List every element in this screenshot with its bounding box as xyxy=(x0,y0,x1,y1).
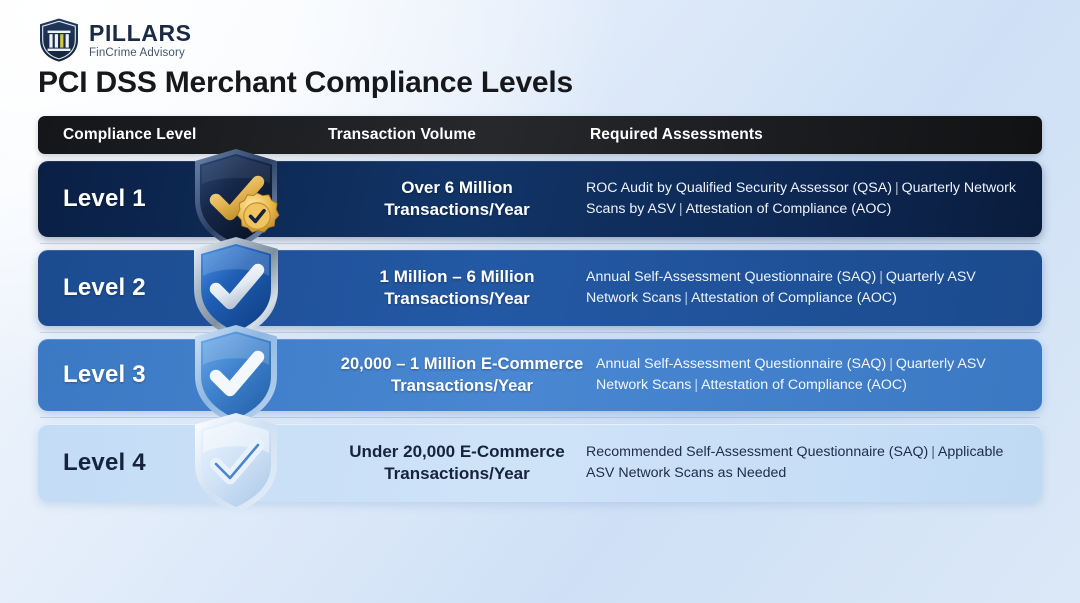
column-header-required-assessments: Required Assessments xyxy=(586,126,1042,144)
brand-name: PILLARS xyxy=(89,22,192,45)
volume-line-2: Transactions/Year xyxy=(384,289,530,308)
column-header-compliance-level: Compliance Level xyxy=(38,126,328,144)
level-label: Level 3 xyxy=(63,361,146,389)
cell-required-assessments: Annual Self-Assessment Questionnaire (SA… xyxy=(586,267,1042,308)
separator-pipe: | xyxy=(676,201,686,217)
volume-line-1: Over 6 Million xyxy=(401,178,512,197)
volume-line-2: Transactions/Year xyxy=(391,376,533,395)
brand-logo: PILLARS FinCrime Advisory xyxy=(38,17,192,63)
infographic-canvas: PILLARS FinCrime Advisory PCI DSS Mercha… xyxy=(0,0,1080,603)
table-row[interactable]: Level 1 xyxy=(38,161,1042,237)
cell-compliance-level: Level 4 xyxy=(38,424,328,502)
separator-pipe: | xyxy=(876,269,886,285)
volume-line-1: 1 Million – 6 Million xyxy=(380,267,535,286)
cell-transaction-volume: 20,000 – 1 Million E-Commerce Transactio… xyxy=(328,353,596,397)
table-row[interactable]: Level 2 xyxy=(38,250,1042,326)
blue-check-shield-silver-rim-icon xyxy=(186,234,286,342)
assessment-part: Annual Self-Assessment Questionnaire (SA… xyxy=(586,269,876,285)
table-row[interactable]: Level 4 xyxy=(38,424,1042,502)
assessment-part: Recommended Self-Assessment Questionnair… xyxy=(586,444,928,460)
separator-pipe: | xyxy=(691,377,701,393)
volume-line-1: 20,000 – 1 Million E-Commerce xyxy=(341,354,584,373)
assessment-part: Attestation of Compliance (AOC) xyxy=(686,201,892,217)
pillars-shield-logo-icon xyxy=(38,17,80,63)
level-label: Level 1 xyxy=(63,185,146,213)
assessment-part: ROC Audit by Qualified Security Assessor… xyxy=(586,180,892,196)
column-header-transaction-volume: Transaction Volume xyxy=(328,126,586,144)
volume-line-1: Under 20,000 E-Commerce xyxy=(349,442,564,461)
cell-required-assessments: Recommended Self-Assessment Questionnair… xyxy=(586,442,1042,483)
assessment-part: Attestation of Compliance (AOC) xyxy=(691,290,897,306)
separator-pipe: | xyxy=(928,444,938,460)
separator-pipe: | xyxy=(681,290,691,306)
brand-tagline: FinCrime Advisory xyxy=(89,48,192,60)
volume-line-2: Transactions/Year xyxy=(384,464,530,483)
cell-compliance-level: Level 1 xyxy=(38,161,328,237)
cell-transaction-volume: Over 6 Million Transactions/Year xyxy=(328,177,586,222)
table-header-row: Compliance Level Transaction Volume Requ… xyxy=(38,116,1042,154)
level-label: Level 4 xyxy=(63,449,146,477)
volume-line-2: Transactions/Year xyxy=(384,200,530,219)
page-title: PCI DSS Merchant Compliance Levels xyxy=(38,66,573,100)
cell-compliance-level: Level 3 xyxy=(38,339,328,411)
gold-check-shield-with-award-badge-icon xyxy=(186,145,286,253)
table-row[interactable]: Level 3 xyxy=(38,339,1042,411)
pale-blue-check-shield-icon xyxy=(186,409,286,517)
cell-transaction-volume: Under 20,000 E-Commerce Transactions/Yea… xyxy=(328,441,586,486)
level-label: Level 2 xyxy=(63,274,146,302)
assessment-part: Attestation of Compliance (AOC) xyxy=(701,377,907,393)
cell-transaction-volume: 1 Million – 6 Million Transactions/Year xyxy=(328,266,586,311)
assessment-part: Annual Self-Assessment Questionnaire (SA… xyxy=(596,356,886,372)
separator-pipe: | xyxy=(886,356,896,372)
separator-pipe: | xyxy=(892,180,902,196)
cell-compliance-level: Level 2 xyxy=(38,250,328,326)
cell-required-assessments: ROC Audit by Qualified Security Assessor… xyxy=(586,178,1042,219)
compliance-levels-table: Compliance Level Transaction Volume Requ… xyxy=(38,116,1042,502)
cell-required-assessments: Annual Self-Assessment Questionnaire (SA… xyxy=(596,354,1042,395)
